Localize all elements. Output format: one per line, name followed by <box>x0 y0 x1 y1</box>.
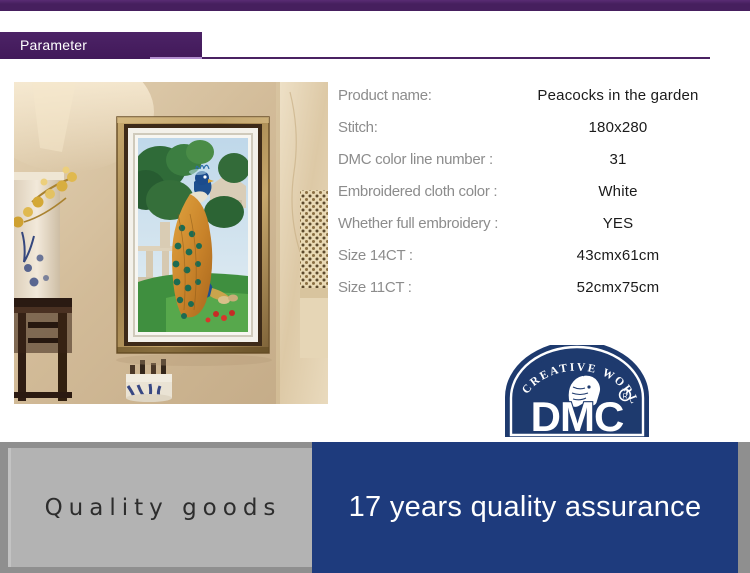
banner-quality-goods-panel: Quality goods <box>8 448 315 567</box>
spec-value: White <box>498 176 738 208</box>
top-accent-bar-sheen <box>0 0 750 4</box>
spec-value: 52cmx75cm <box>498 272 738 304</box>
spec-label: Size 11CT : <box>338 272 412 304</box>
tab-underline-highlight <box>150 57 202 59</box>
spec-value: YES <box>498 208 738 240</box>
spec-label: Size 14CT : <box>338 240 413 272</box>
spec-row: Embroidered cloth color : White <box>338 176 738 208</box>
banner-assurance-panel: 17 years quality assurance <box>312 442 738 573</box>
dmc-logo: CREATIVE WORLD R DMC <box>497 345 657 445</box>
spec-label: Embroidered cloth color : <box>338 176 497 208</box>
dmc-wordmark: DMC <box>531 393 624 440</box>
spec-value: 43cmx61cm <box>498 240 738 272</box>
product-spec-list: Product name: Peacocks in the garden Sti… <box>338 80 738 304</box>
spec-label: Product name: <box>338 80 432 112</box>
spec-row: Size 14CT : 43cmx61cm <box>338 240 738 272</box>
spec-label: Stitch: <box>338 112 378 144</box>
spec-value: 180x280 <box>498 112 738 144</box>
tab-underline <box>202 57 710 59</box>
spec-row: Stitch: 180x280 <box>338 112 738 144</box>
bottom-banner: Quality goods 17 years quality assurance <box>0 442 750 573</box>
product-parameter-page: Parameter <box>0 0 750 573</box>
product-photo <box>14 82 328 404</box>
spec-row: Product name: Peacocks in the garden <box>338 80 738 112</box>
top-accent-bar <box>0 0 750 11</box>
banner-quality-goods-text: Quality goods <box>11 448 315 567</box>
spec-label: Whether full embroidery : <box>338 208 498 240</box>
spec-row: DMC color line number : 31 <box>338 144 738 176</box>
spec-value: Peacocks in the garden <box>498 80 738 112</box>
tab-parameter-label: Parameter <box>20 37 87 53</box>
spec-label: DMC color line number : <box>338 144 493 176</box>
banner-assurance-text: 17 years quality assurance <box>349 491 702 524</box>
spec-row: Size 11CT : 52cmx75cm <box>338 272 738 304</box>
spec-row: Whether full embroidery : YES <box>338 208 738 240</box>
spec-value: 31 <box>498 144 738 176</box>
